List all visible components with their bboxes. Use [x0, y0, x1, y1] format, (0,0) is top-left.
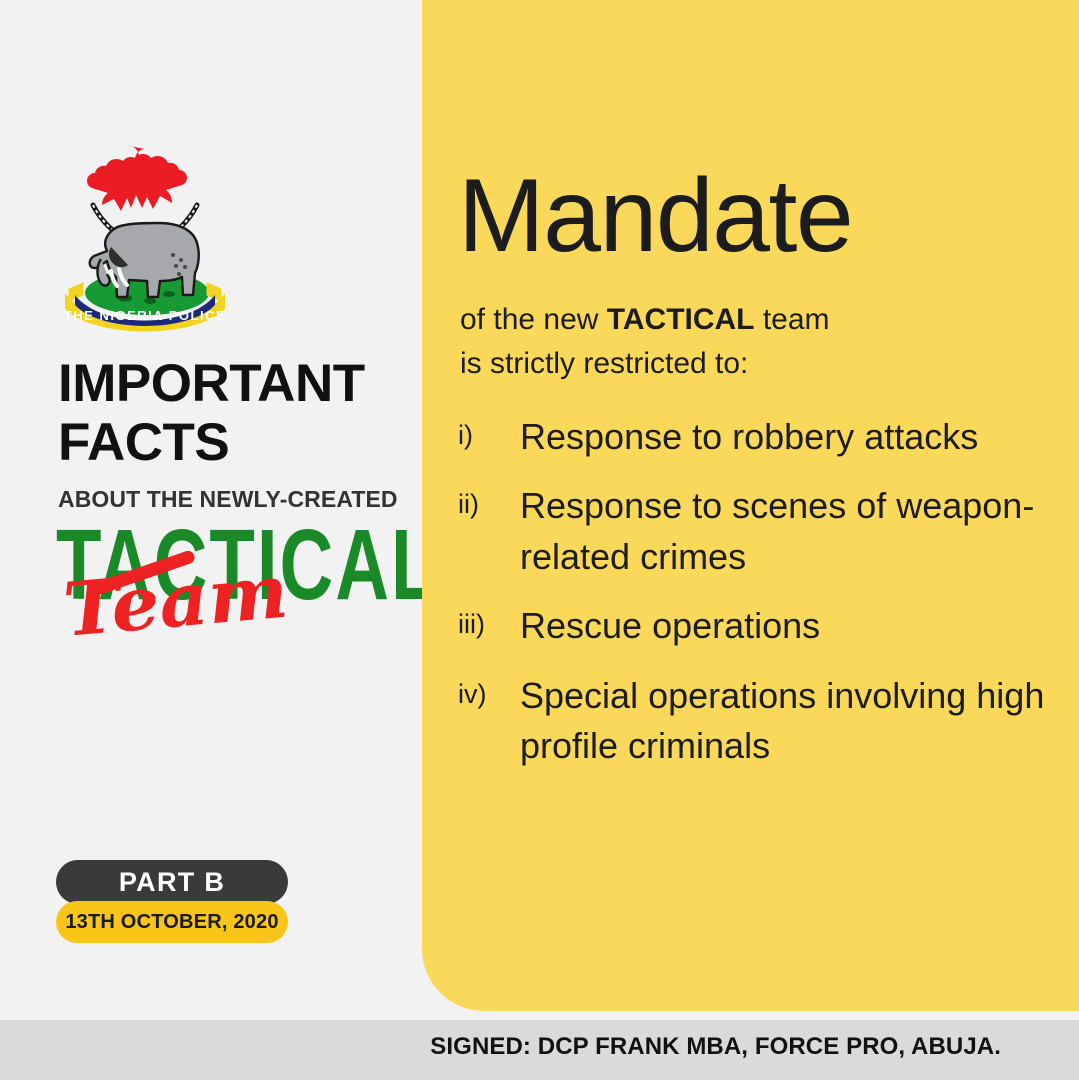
part-badge-label: PART B	[119, 867, 225, 898]
list-item: iii) Rescue operations	[458, 601, 1068, 651]
part-badge: PART B	[56, 860, 288, 904]
mandate-list: i) Response to robbery attacks ii) Respo…	[458, 412, 1068, 790]
list-item: iv) Special operations involving high pr…	[458, 671, 1068, 772]
mandate-subtitle-pre: of the new	[460, 303, 607, 336]
list-item-number: i)	[458, 412, 520, 454]
footer-gap	[0, 1011, 1079, 1020]
headline-line-1: IMPORTANT	[58, 358, 408, 410]
mandate-title: Mandate	[458, 164, 852, 268]
list-item: ii) Response to scenes of weapon-related…	[458, 481, 1068, 582]
team-word: Team	[61, 555, 291, 648]
mandate-subtitle-bold: TACTICAL	[607, 303, 755, 336]
list-item-number: iii)	[458, 601, 520, 643]
nigeria-police-crest-icon: THE NIGERIA POLICE	[55, 143, 235, 338]
list-item: i) Response to robbery attacks	[458, 412, 1068, 462]
list-item-text: Special operations involving high profil…	[520, 671, 1068, 772]
list-item-text: Response to robbery attacks	[520, 412, 1068, 462]
mandate-panel: Mandate of the new TACTICAL team is stri…	[422, 0, 1079, 1011]
svg-text:THE NIGERIA POLICE: THE NIGERIA POLICE	[64, 308, 226, 323]
mandate-subtitle-line2: is strictly restricted to:	[460, 347, 748, 380]
signed-by-text: SIGNED: DCP FRANK MBA, FORCE PRO, ABUJA.	[430, 1033, 1001, 1061]
list-item-number: ii)	[458, 481, 520, 523]
left-panel: THE NIGERIA POLICE IMPORTANT FACTS ABOUT…	[0, 0, 422, 1020]
date-badge-label: 13TH OCTOBER, 2020	[65, 911, 278, 934]
mandate-subtitle: of the new TACTICAL team is strictly res…	[460, 298, 1060, 385]
headline-line-2: FACTS	[58, 417, 408, 469]
list-item-number: iv)	[458, 671, 520, 713]
poster-canvas: THE NIGERIA POLICE IMPORTANT FACTS ABOUT…	[0, 0, 1079, 1080]
tactical-team-lockup: TACTICAL Team	[56, 516, 396, 676]
mandate-subtitle-post: team	[755, 303, 830, 336]
date-badge: 13TH OCTOBER, 2020	[56, 901, 288, 943]
list-item-text: Response to scenes of weapon-related cri…	[520, 481, 1068, 582]
page-title: IMPORTANT FACTS	[58, 358, 408, 469]
list-item-text: Rescue operations	[520, 601, 1068, 651]
